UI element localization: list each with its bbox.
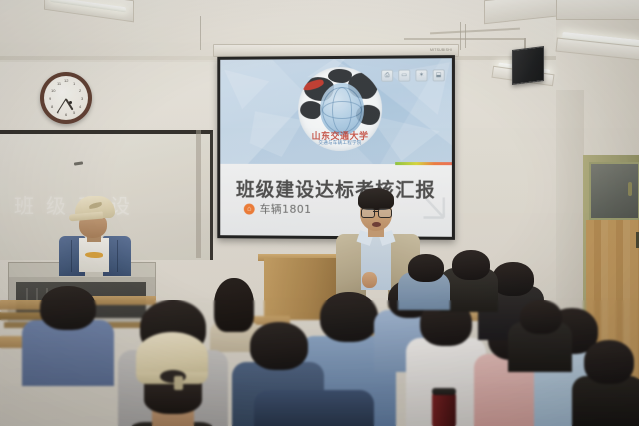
home-icon: ⌂	[244, 203, 255, 214]
clock-numeral: 10	[51, 89, 55, 93]
emblem-name-sub: 交通与车辆工程学院	[304, 140, 376, 146]
slide-subtitle-row: ⌂ 车辆1801	[244, 201, 312, 217]
pointer-icon[interactable]: ✶	[415, 69, 427, 81]
long-hair	[214, 278, 254, 332]
whiteboard-edge	[196, 130, 201, 258]
clock-numeral: 9	[49, 97, 51, 101]
head	[520, 300, 562, 334]
screen-brand-label: MITSUBISHI	[430, 48, 452, 52]
head	[40, 286, 96, 330]
head	[492, 262, 534, 296]
eyeglasses-bridge	[373, 211, 378, 212]
head	[144, 380, 202, 414]
door-handle[interactable]	[628, 182, 632, 196]
print-icon[interactable]: ⎙	[381, 70, 393, 82]
clock-numeral: 11	[57, 82, 61, 86]
slide-subtitle: 车辆1801	[260, 201, 312, 217]
fullscreen-icon[interactable]: ⬓	[433, 69, 445, 81]
slide-toolbar[interactable]: ⎙ ▭ ✶ ⬓	[381, 69, 445, 81]
desk	[86, 296, 156, 305]
clock-minute-hand	[56, 98, 66, 113]
thermos-cap	[432, 388, 456, 395]
eyeglasses-right-lens	[378, 208, 392, 218]
clock-numeral: 4	[79, 105, 81, 109]
fluorescent-light-fixture	[556, 0, 639, 20]
plaid-shirt	[254, 390, 374, 426]
hair	[358, 188, 394, 210]
audience-member	[122, 332, 218, 426]
mouth	[372, 222, 381, 227]
head	[320, 292, 378, 342]
clock-numeral: 12	[64, 79, 68, 83]
ceiling-wire	[465, 24, 466, 48]
slide-accent-stripe	[395, 162, 452, 165]
person-at-podium	[55, 196, 133, 274]
comment-icon[interactable]: ▭	[398, 70, 410, 82]
hand-left	[362, 272, 377, 288]
thermos-bottle	[432, 392, 456, 426]
eyeglasses-left-lens	[361, 208, 375, 218]
shirt-graphic	[85, 252, 103, 258]
ceiling-wire	[460, 22, 461, 50]
clock-numeral: 2	[79, 89, 81, 93]
head	[408, 254, 444, 282]
globe-graphic	[320, 83, 364, 135]
head	[584, 340, 634, 384]
wall-speaker	[512, 46, 544, 85]
ceiling-conduit	[404, 38, 524, 40]
wall-clock: 12 1 2 3 4 5 6 7 8 9 10 11	[40, 72, 92, 124]
clock-numeral: 3	[81, 97, 83, 101]
whiteboard-marker	[74, 161, 83, 165]
clock-numeral: 6	[65, 113, 67, 117]
clock-face: 12 1 2 3 4 5 6 7 8 9 10 11	[44, 76, 88, 120]
clock-numeral: 8	[51, 105, 53, 109]
head	[452, 250, 490, 280]
clock-center-pin	[69, 101, 72, 104]
screen-pull-cord	[200, 16, 201, 50]
clock-numeral: 1	[73, 82, 75, 86]
university-emblem: 山东交通大学 交通与车辆工程学院	[298, 67, 382, 151]
cap-strap	[174, 376, 183, 390]
classroom-photo-scene: 12 1 2 3 4 5 6 7 8 9 10 11 班级建设 MITSUBIS…	[0, 0, 639, 426]
clock-numeral: 5	[73, 111, 75, 115]
head	[250, 322, 308, 370]
